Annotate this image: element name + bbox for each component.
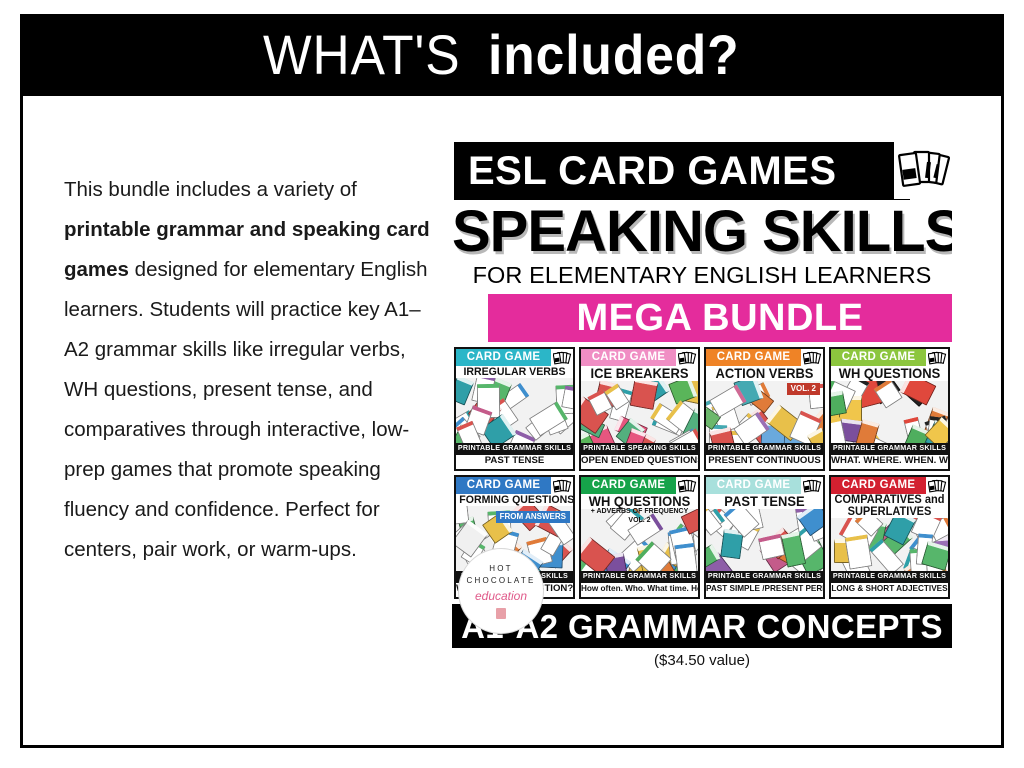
description-text: This bundle includes a variety of bbox=[64, 178, 357, 201]
thumbnail-photo bbox=[706, 509, 823, 571]
thumbnail-footer-topic: OPEN ENDED QUESTIONS bbox=[581, 454, 698, 469]
page-title-thin: WHAT'S bbox=[263, 27, 461, 83]
thumbnail-title: COMPARATIVES and SUPERLATIVES bbox=[833, 494, 945, 518]
card-deck-icon bbox=[676, 477, 698, 494]
card-game-chip: CARD GAME bbox=[581, 477, 676, 494]
card-deck-icon bbox=[551, 349, 573, 366]
thumbnail-chip-row: CARD GAME bbox=[706, 477, 823, 494]
mini-card bbox=[456, 378, 474, 406]
thumbnail-chip-row: CARD GAME bbox=[831, 349, 948, 366]
thumbnail-badge: + ADVERBS OF FREQUENCY VOL. 2 bbox=[583, 507, 696, 526]
card-deck-icon bbox=[801, 477, 823, 494]
thumbnail-title: IRREGULAR VERBS bbox=[458, 366, 570, 378]
thumbnail-chip-row: CARD GAME bbox=[706, 349, 823, 366]
card-deck-icon bbox=[551, 477, 573, 494]
brand-logo-watermark: HOT CHOCOLATE education bbox=[458, 548, 544, 634]
product-thumbnail[interactable]: CARD GAMEWH QUESTIONSPRINTABLE GRAMMAR S… bbox=[829, 347, 950, 471]
thumbnail-chip-row: CARD GAME bbox=[581, 477, 698, 494]
mini-card bbox=[674, 543, 698, 572]
card-game-chip: CARD GAME bbox=[831, 477, 926, 494]
product-thumbnail[interactable]: CARD GAMEWH QUESTIONS+ ADVERBS OF FREQUE… bbox=[579, 475, 700, 599]
thumbnail-photo bbox=[831, 381, 948, 443]
thumbnail-footer-category: PRINTABLE GRAMMAR SKILLS GAME bbox=[831, 571, 948, 582]
description-text: designed for elementary English learners… bbox=[64, 258, 428, 561]
thumbnail-footer-category: PRINTABLE GRAMMAR SKILLS GAME bbox=[581, 571, 698, 582]
thumbnail-footer-category: PRINTABLE SPEAKING SKILLS GAME bbox=[581, 443, 698, 454]
mega-bundle-banner: MEGA BUNDLE bbox=[488, 294, 952, 342]
cover-eyebrow-text: ESL CARD GAMES bbox=[454, 151, 837, 191]
product-thumbnail[interactable]: CARD GAMEICE BREAKERSPRINTABLE SPEAKING … bbox=[579, 347, 700, 471]
value-note: ($34.50 value) bbox=[452, 652, 952, 669]
thumbnail-title: WH QUESTIONS bbox=[833, 366, 945, 381]
card-deck-icon bbox=[801, 349, 823, 366]
page-title-bold: included? bbox=[488, 27, 740, 83]
card-deck-icon bbox=[676, 349, 698, 366]
thumbnail-badge: FROM ANSWERS bbox=[496, 511, 570, 523]
thumbnail-footer-topic: PRESENT CONTINUOUS bbox=[706, 454, 823, 469]
card-game-chip: CARD GAME bbox=[456, 349, 551, 366]
mini-card bbox=[845, 534, 873, 569]
thumbnail-chip-row: CARD GAME bbox=[831, 477, 948, 494]
card-game-chip: CARD GAME bbox=[706, 477, 801, 494]
thumbnail-title: ICE BREAKERS bbox=[583, 366, 695, 381]
product-thumbnail[interactable]: CARD GAMEACTION VERBSVOL. 2PRINTABLE GRA… bbox=[704, 347, 825, 471]
card-deck-icon bbox=[926, 477, 948, 494]
thumbnail-photo bbox=[456, 378, 573, 443]
thumbnail-footer-topic: How often. Who. What time. How? bbox=[581, 582, 698, 597]
card-game-chip: CARD GAME bbox=[831, 349, 926, 366]
thumbnail-footer-topic: PAST SIMPLE /PRESENT PERFECT bbox=[706, 582, 823, 597]
logo-mug-icon bbox=[496, 608, 506, 619]
product-thumbnail[interactable]: CARD GAMEPAST TENSEPRINTABLE GRAMMAR SKI… bbox=[704, 475, 825, 599]
description-paragraph: This bundle includes a variety of printa… bbox=[64, 170, 444, 570]
thumbnail-footer-topic: WHAT. WHERE. WHEN. WHY bbox=[831, 454, 948, 469]
thumbnail-footer-topic: LONG & SHORT ADJECTIVES bbox=[831, 582, 948, 597]
mega-bundle-label: MEGA BUNDLE bbox=[577, 299, 864, 337]
thumbnail-footer-topic: PAST TENSE bbox=[456, 454, 573, 469]
card-deck-icon bbox=[894, 141, 952, 199]
cover-subtitle: FOR ELEMENTARY ENGLISH LEARNERS bbox=[452, 262, 952, 289]
thumbnail-chip-row: CARD GAME bbox=[456, 477, 573, 494]
thumbnail-footer-category: PRINTABLE GRAMMAR SKILLS GAME bbox=[706, 443, 823, 454]
slide-canvas: WHAT'S included? This bundle includes a … bbox=[0, 0, 1024, 768]
thumbnail-footer-category: PRINTABLE GRAMMAR SKILLS GAME bbox=[456, 443, 573, 454]
thumbnail-chip-row: CARD GAME bbox=[581, 349, 698, 366]
thumbnail-title: ACTION VERBS bbox=[708, 366, 820, 381]
thumbnail-badge: VOL. 2 bbox=[787, 383, 820, 395]
logo-line-three: education bbox=[475, 587, 527, 606]
thumbnail-photo bbox=[831, 518, 948, 571]
thumbnail-footer-category: PRINTABLE GRAMMAR SKILLS GAME bbox=[706, 571, 823, 582]
cover-title: SPEAKING SKILLS bbox=[452, 202, 952, 261]
product-thumbnail[interactable]: CARD GAMEIRREGULAR VERBSPRINTABLE GRAMMA… bbox=[454, 347, 575, 471]
thumbnail-photo bbox=[581, 381, 698, 443]
card-game-chip: CARD GAME bbox=[456, 477, 551, 494]
cover-eyebrow-strip: ESL CARD GAMES bbox=[454, 142, 910, 200]
cover-banner-wrap: MEGA BUNDLE bbox=[452, 294, 952, 342]
card-deck-icon bbox=[926, 349, 948, 366]
card-game-chip: CARD GAME bbox=[706, 349, 801, 366]
mini-card bbox=[629, 381, 658, 410]
product-thumbnail[interactable]: CARD GAMECOMPARATIVES and SUPERLATIVESPR… bbox=[829, 475, 950, 599]
logo-line-two: CHOCOLATE bbox=[467, 575, 536, 587]
thumbnail-title: FORMING QUESTIONS bbox=[458, 494, 570, 506]
thumbnail-footer-category: PRINTABLE GRAMMAR SKILLS GAME bbox=[831, 443, 948, 454]
card-game-chip: CARD GAME bbox=[581, 349, 676, 366]
thumbnail-chip-row: CARD GAME bbox=[456, 349, 573, 366]
header-bar: WHAT'S included? bbox=[20, 14, 1004, 96]
page-title: WHAT'S included? bbox=[263, 27, 761, 83]
logo-line-one: HOT bbox=[489, 563, 513, 575]
thumbnail-title: PAST TENSE bbox=[708, 494, 820, 509]
